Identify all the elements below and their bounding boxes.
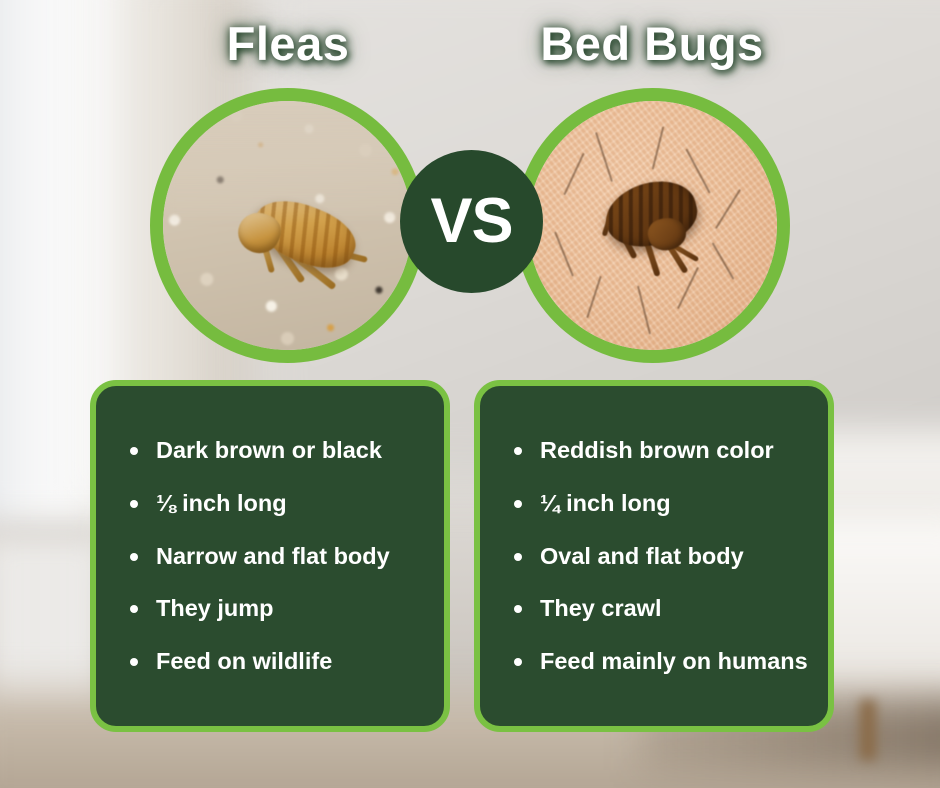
bed-bug-facts-card: Reddish brown color ¼ inch long Oval and… bbox=[474, 380, 834, 732]
flea-photo-circle bbox=[150, 88, 425, 363]
right-column-title: Bed Bugs bbox=[512, 16, 792, 71]
flea-photo bbox=[163, 101, 412, 350]
list-item: Narrow and flat body bbox=[122, 542, 426, 571]
list-item: ¼ inch long bbox=[506, 489, 810, 518]
bed-bug-photo-circle bbox=[515, 88, 790, 363]
list-item: They crawl bbox=[506, 594, 810, 623]
list-item: Reddish brown color bbox=[506, 436, 810, 465]
flea-vs-bedbug-infographic: Fleas Bed Bugs bbox=[0, 0, 940, 788]
list-item: ⅛ inch long bbox=[122, 489, 426, 518]
left-column-title: Fleas bbox=[148, 16, 428, 71]
sand-depth-blur bbox=[163, 101, 412, 216]
list-item: They jump bbox=[122, 594, 426, 623]
flea-facts-card: Dark brown or black ⅛ inch long Narrow a… bbox=[90, 380, 450, 732]
versus-label: VS bbox=[430, 190, 512, 253]
list-item: Feed on wildlife bbox=[122, 647, 426, 676]
bed-bug-fact-list: Reddish brown color ¼ inch long Oval and… bbox=[506, 436, 810, 675]
versus-badge: VS bbox=[400, 150, 543, 293]
list-item: Feed mainly on humans bbox=[506, 647, 810, 676]
flea-fact-list: Dark brown or black ⅛ inch long Narrow a… bbox=[122, 436, 426, 675]
list-item: Dark brown or black bbox=[122, 436, 426, 465]
list-item: Oval and flat body bbox=[506, 542, 810, 571]
bed-bug-photo bbox=[528, 101, 777, 350]
background-furniture-leg bbox=[860, 700, 876, 760]
